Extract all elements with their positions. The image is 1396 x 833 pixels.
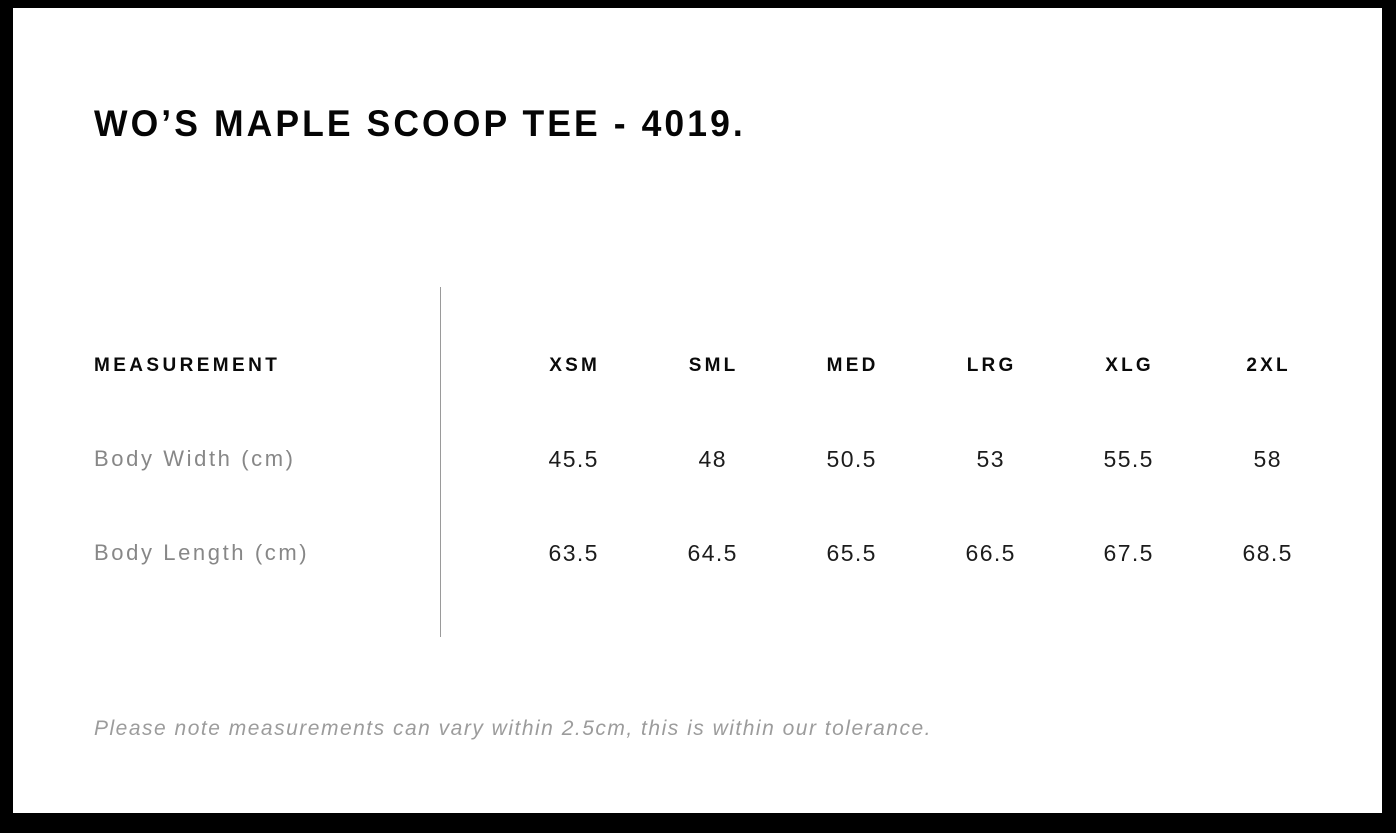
cell-body-width-xsm: 45.5 [503, 446, 643, 473]
cell-body-length-sml: 64.5 [642, 540, 782, 567]
tolerance-note: Please note measurements can vary within… [94, 717, 932, 741]
cell-body-width-lrg: 53 [920, 446, 1060, 473]
table-vertical-divider [440, 287, 441, 637]
size-chart-sheet: WO’S MAPLE SCOOP TEE - 4019. MEASUREMENT… [13, 8, 1382, 813]
column-header-lrg: LRG [920, 355, 1060, 377]
cell-body-width-xlg: 55.5 [1058, 446, 1198, 473]
cell-body-width-sml: 48 [642, 446, 782, 473]
column-header-med: MED [781, 355, 921, 377]
column-header-2xl: 2XL [1197, 355, 1337, 377]
size-measurement-table: MEASUREMENT XSM SML MED LRG XLG 2XL Body… [13, 8, 1382, 813]
cell-body-length-xlg: 67.5 [1058, 540, 1198, 567]
row-label-body-length: Body Length (cm) [94, 540, 309, 566]
cell-body-width-med: 50.5 [781, 446, 921, 473]
column-header-measurement: MEASUREMENT [94, 355, 280, 377]
cell-body-length-xsm: 63.5 [503, 540, 643, 567]
row-label-body-width: Body Width (cm) [94, 446, 296, 472]
cell-body-width-2xl: 58 [1197, 446, 1337, 473]
cell-body-length-2xl: 68.5 [1197, 540, 1337, 567]
chart-border-frame: WO’S MAPLE SCOOP TEE - 4019. MEASUREMENT… [0, 0, 1396, 833]
column-header-xsm: XSM [503, 355, 643, 377]
column-header-sml: SML [642, 355, 782, 377]
cell-body-length-med: 65.5 [781, 540, 921, 567]
cell-body-length-lrg: 66.5 [920, 540, 1060, 567]
column-header-xlg: XLG [1058, 355, 1198, 377]
